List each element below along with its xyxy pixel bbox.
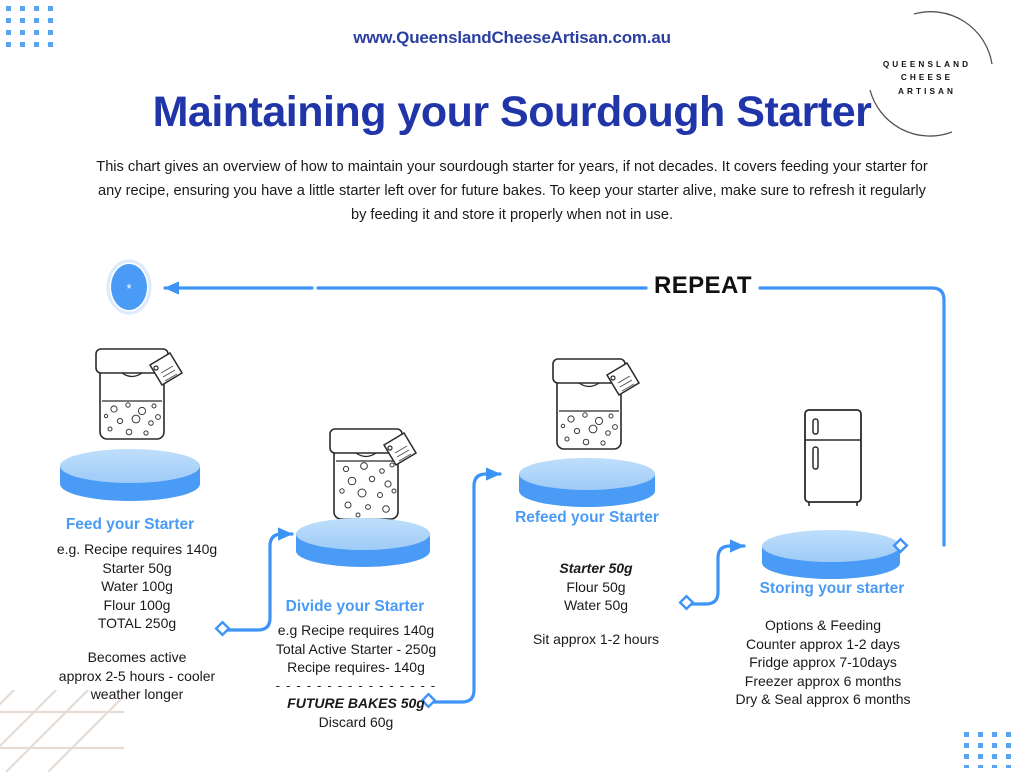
step-line: Freezer approx 6 months — [700, 672, 946, 691]
step-line: Recipe requires- 140g — [248, 658, 464, 677]
start-node-symbol: * — [126, 281, 131, 296]
fridge-icon-step4 — [805, 410, 861, 506]
step-body-feed: e.g. Recipe requires 140g Starter 50g Wa… — [14, 540, 260, 704]
cylinder-step2 — [296, 518, 430, 567]
step-note-line: Discard 60g — [248, 713, 464, 732]
step-line: Flour 100g — [14, 596, 260, 615]
jar-icon-step3 — [553, 359, 639, 449]
step-body-divide: e.g Recipe requires 140g Total Active St… — [248, 621, 464, 731]
step-body-storing: Options & Feeding Counter approx 1-2 day… — [700, 616, 946, 709]
cylinder-step1 — [60, 449, 200, 501]
spacer — [496, 615, 696, 630]
step-line: Dry & Seal approx 6 months — [700, 690, 946, 709]
jar-icon-step2 — [330, 429, 416, 519]
start-node[interactable]: * — [108, 261, 150, 313]
step-note-line: Becomes active — [14, 648, 260, 667]
step-line: Water 50g — [496, 596, 696, 615]
step-title-storing: Storing your starter — [742, 578, 922, 600]
step-line: Starter 50g — [14, 559, 260, 578]
step-line: e.g. Recipe requires 140g — [14, 540, 260, 559]
infographic-canvas: www.QueenslandCheeseArtisan.com.au Maint… — [0, 0, 1024, 768]
step-line: TOTAL 250g — [14, 614, 260, 633]
step-line: Fridge approx 7-10days — [700, 653, 946, 672]
step-title-feed: Feed your Starter — [30, 514, 230, 536]
step-line: e.g Recipe requires 140g — [248, 621, 464, 640]
step-line: Water 100g — [14, 577, 260, 596]
step-emphasis: Starter 50g — [496, 559, 696, 578]
step-note-line: weather longer — [14, 685, 260, 704]
step-note-line: Sit approx 1-2 hours — [496, 630, 696, 649]
step-title-refeed: Refeed your Starter — [505, 507, 669, 529]
cylinder-step4 — [762, 530, 907, 579]
cylinder-step3 — [519, 458, 655, 507]
step-line: Total Active Starter - 250g — [248, 640, 464, 659]
step-emphasis: FUTURE BAKES 50g — [248, 694, 464, 713]
step-title-divide: Divide your Starter — [255, 596, 455, 618]
jar-icon-step1 — [96, 349, 182, 439]
repeat-label: REPEAT — [654, 272, 752, 300]
spacer — [14, 633, 260, 648]
step-divider: - - - - - - - - - - - - - - - - — [248, 677, 464, 694]
step-body-refeed: Starter 50g Flour 50g Water 50g Sit appr… — [496, 559, 696, 648]
step-line: Options & Feeding — [700, 616, 946, 635]
step-note-line: approx 2-5 hours - cooler — [14, 667, 260, 686]
step-line: Flour 50g — [496, 578, 696, 597]
step-line: Counter approx 1-2 days — [700, 635, 946, 654]
